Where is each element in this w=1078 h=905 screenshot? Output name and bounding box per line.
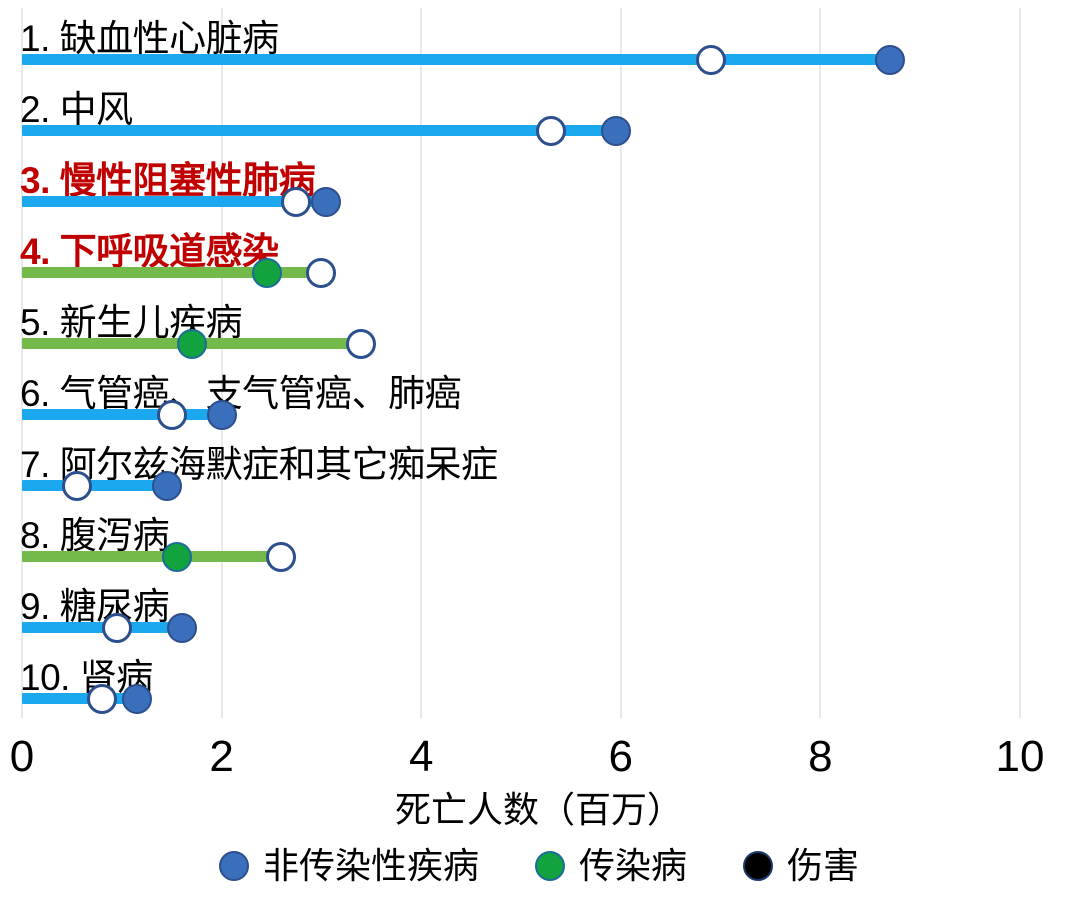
lollipop xyxy=(22,409,222,420)
legend-item-ncd[interactable]: 非传染性疾病 xyxy=(219,846,479,886)
legend-item-inj[interactable]: 伤害 xyxy=(743,846,859,886)
lollipop-stem xyxy=(22,693,137,704)
x-tick-label: 10 xyxy=(996,730,1045,784)
marker-filled xyxy=(875,45,905,75)
marker-hollow xyxy=(102,613,132,643)
x-tick-label: 6 xyxy=(609,730,633,784)
marker-filled xyxy=(177,329,207,359)
chart-row: 6. 气管癌、支气管癌、肺癌 xyxy=(0,357,1078,428)
row-label: 8. 腹泻病 xyxy=(20,516,169,556)
legend: 非传染性疾病传染病伤害 xyxy=(0,836,1078,896)
chart-row: 4. 下呼吸道感染 xyxy=(0,215,1078,286)
legend-dot-icon xyxy=(743,851,773,881)
lollipop-stem xyxy=(22,125,616,136)
row-label: 6. 气管癌、支气管癌、肺癌 xyxy=(20,374,461,414)
lollipop xyxy=(22,551,281,562)
marker-filled xyxy=(311,187,341,217)
marker-hollow xyxy=(281,187,311,217)
marker-filled xyxy=(162,542,192,572)
lollipop-chart: 1. 缺血性心脏病2. 中风3. 慢性阻塞性肺病4. 下呼吸道感染5. 新生儿疾… xyxy=(0,0,1078,905)
lollipop xyxy=(22,693,137,704)
marker-hollow xyxy=(346,329,376,359)
marker-filled xyxy=(152,471,182,501)
chart-row: 9. 糖尿病 xyxy=(0,570,1078,641)
legend-label: 传染病 xyxy=(579,846,687,886)
lollipop xyxy=(22,125,616,136)
x-tick-label: 2 xyxy=(209,730,233,784)
marker-hollow xyxy=(536,116,566,146)
lollipop xyxy=(22,480,167,491)
legend-dot-icon xyxy=(219,851,249,881)
marker-filled xyxy=(122,684,152,714)
row-label: 7. 阿尔兹海默症和其它痴呆症 xyxy=(20,445,498,485)
lollipop xyxy=(22,622,182,633)
lollipop xyxy=(22,196,326,207)
marker-filled xyxy=(252,258,282,288)
lollipop-stem xyxy=(22,409,222,420)
marker-hollow xyxy=(696,45,726,75)
lollipop-stem xyxy=(22,54,890,65)
plot-area: 1. 缺血性心脏病2. 中风3. 慢性阻塞性肺病4. 下呼吸道感染5. 新生儿疾… xyxy=(0,0,1078,730)
row-label: 3. 慢性阻塞性肺病 xyxy=(20,161,315,201)
lollipop xyxy=(22,54,890,65)
x-axis: 0246810 xyxy=(0,730,1078,792)
legend-dot-icon xyxy=(535,851,565,881)
chart-row: 10. 肾病 xyxy=(0,641,1078,712)
marker-hollow xyxy=(306,258,336,288)
legend-item-comm[interactable]: 传染病 xyxy=(535,846,687,886)
x-tick-label: 8 xyxy=(808,730,832,784)
row-label: 9. 糖尿病 xyxy=(20,587,169,627)
row-label: 2. 中风 xyxy=(20,90,133,130)
lollipop-stem xyxy=(22,480,167,491)
chart-row: 5. 新生儿疾病 xyxy=(0,286,1078,357)
row-label: 4. 下呼吸道感染 xyxy=(20,232,279,272)
legend-label: 伤害 xyxy=(787,846,859,886)
chart-row: 1. 缺血性心脏病 xyxy=(0,2,1078,73)
x-tick-label: 0 xyxy=(10,730,34,784)
chart-rows: 1. 缺血性心脏病2. 中风3. 慢性阻塞性肺病4. 下呼吸道感染5. 新生儿疾… xyxy=(0,0,1078,730)
row-label: 1. 缺血性心脏病 xyxy=(20,19,279,59)
x-tick-label: 4 xyxy=(409,730,433,784)
chart-row: 7. 阿尔兹海默症和其它痴呆症 xyxy=(0,428,1078,499)
row-label: 5. 新生儿疾病 xyxy=(20,303,242,343)
legend-label: 非传染性疾病 xyxy=(263,846,479,886)
marker-hollow xyxy=(87,684,117,714)
marker-hollow xyxy=(62,471,92,501)
lollipop-stem xyxy=(22,551,281,562)
chart-row: 3. 慢性阻塞性肺病 xyxy=(0,144,1078,215)
marker-filled xyxy=(207,400,237,430)
chart-row: 2. 中风 xyxy=(0,73,1078,144)
lollipop xyxy=(22,338,361,349)
lollipop xyxy=(22,267,321,278)
marker-filled xyxy=(601,116,631,146)
marker-filled xyxy=(167,613,197,643)
marker-hollow xyxy=(266,542,296,572)
marker-hollow xyxy=(157,400,187,430)
x-axis-title: 死亡人数（百万） xyxy=(0,788,1078,832)
chart-row: 8. 腹泻病 xyxy=(0,499,1078,570)
